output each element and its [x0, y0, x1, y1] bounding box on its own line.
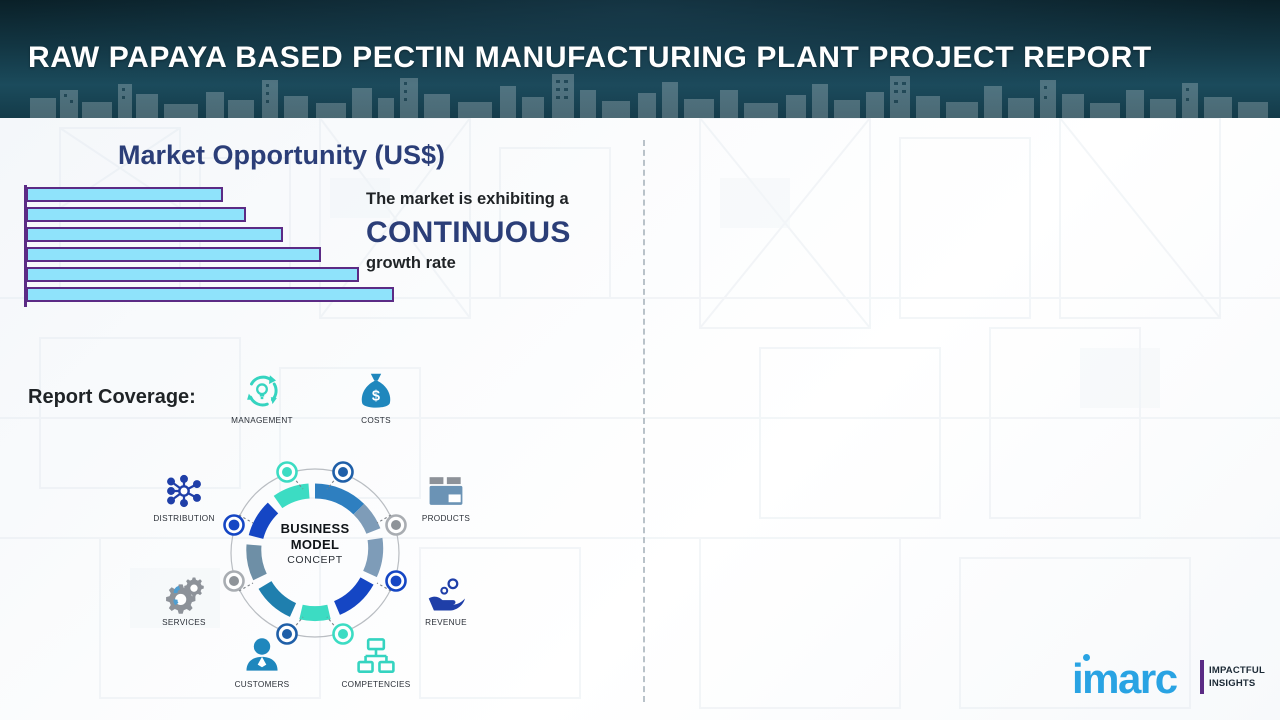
gears-icon	[136, 568, 232, 614]
coverage-item-management[interactable]: MANAGEMENT	[214, 366, 310, 425]
coverage-label: CUSTOMERS	[214, 680, 310, 689]
slide-root: RAW PAPAYA BASED PECTIN MANUFACTURING PL…	[0, 0, 1280, 720]
wheel-center-line-1: BUSINESS	[215, 521, 415, 537]
network-nodes-icon	[136, 464, 232, 510]
bar-row	[26, 247, 321, 262]
org-chart-icon	[328, 630, 424, 676]
business-model-diagram: BUSINESS MODEL CONCEPT	[130, 368, 500, 698]
bar-row	[26, 207, 246, 222]
imarc-logo: imarc IMPACTFUL INSIGHTS	[1072, 654, 1272, 700]
user-group-icon	[214, 630, 310, 676]
wheel-center-label: BUSINESS MODEL CONCEPT	[215, 521, 415, 566]
coverage-item-customers[interactable]: CUSTOMERS	[214, 630, 310, 689]
callout-line-3: growth rate	[366, 254, 636, 274]
coverage-label: MANAGEMENT	[214, 416, 310, 425]
page-title: RAW PAPAYA BASED PECTIN MANUFACTURING PL…	[28, 41, 1208, 75]
svg-text:$: $	[372, 389, 380, 405]
bar-row	[26, 187, 223, 202]
bar-row	[26, 227, 283, 242]
logo-divider	[1200, 660, 1204, 694]
header-banner: RAW PAPAYA BASED PECTIN MANUFACTURING PL…	[0, 0, 1280, 118]
coverage-item-revenue[interactable]: REVENUE	[398, 568, 494, 627]
callout-line-2: CONTINUOUS	[366, 214, 636, 252]
coverage-label: COMPETENCIES	[328, 680, 424, 689]
coverage-label: PRODUCTS	[398, 514, 494, 523]
coverage-label: SERVICES	[136, 618, 232, 627]
coverage-label: COSTS	[328, 416, 424, 425]
box-icon	[398, 464, 494, 510]
city-skyline-graphic	[0, 72, 1280, 118]
coverage-label: REVENUE	[398, 618, 494, 627]
money-bag-icon: $	[328, 366, 424, 412]
wheel-center-line-2: MODEL	[215, 537, 415, 553]
hand-coins-icon	[398, 568, 494, 614]
coverage-label: DISTRIBUTION	[136, 514, 232, 523]
market-callout: The market is exhibiting a CONTINUOUS gr…	[366, 190, 636, 274]
bar-row	[26, 287, 394, 302]
coverage-item-distribution[interactable]: DISTRIBUTION	[136, 464, 232, 523]
coverage-item-competencies[interactable]: COMPETENCIES	[328, 630, 424, 689]
market-opportunity-bar-chart	[24, 185, 404, 307]
coverage-item-products[interactable]: PRODUCTS	[398, 464, 494, 523]
panel-divider	[643, 140, 645, 702]
business-model-wheel: BUSINESS MODEL CONCEPT	[215, 453, 415, 653]
coverage-item-costs[interactable]: $ COSTS	[328, 366, 424, 425]
coverage-item-services[interactable]: SERVICES	[136, 568, 232, 627]
slide-body: Market Opportunity (US$) The market is e…	[0, 118, 1280, 720]
logo-tagline-line-1: IMPACTFUL	[1209, 665, 1265, 676]
uses-of-cost-model-diagram: Uses of Cost Model Risk Management Valua…	[660, 118, 1280, 720]
bar-row	[26, 267, 359, 282]
wheel-center-line-3: CONCEPT	[215, 554, 415, 566]
logo-tagline-line-2: INSIGHTS	[1209, 678, 1255, 689]
market-opportunity-title: Market Opportunity (US$)	[118, 140, 445, 171]
logo-wordmark: imarc	[1072, 658, 1177, 700]
callout-line-1: The market is exhibiting a	[366, 190, 636, 210]
recycle-bulb-icon	[214, 366, 310, 412]
